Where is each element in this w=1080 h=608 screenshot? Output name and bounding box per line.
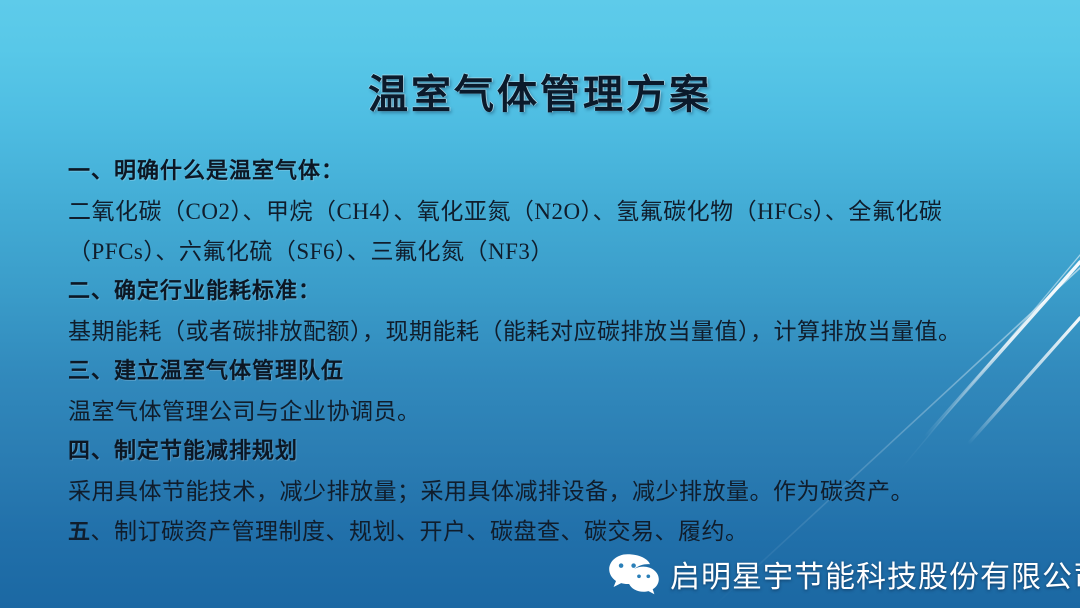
section-line-1-1: 二氧化碳（CO2）、甲烷（CH4）、氧化亚氮（N2O）、氢氟碳化物（HFCs）、… — [68, 192, 1020, 232]
section-heading-4: 四、制定节能减排规划 — [68, 432, 1020, 472]
section-line-1-2: （PFCs）、六氟化硫（SF6）、三氟化氮（NF3） — [68, 232, 1020, 272]
wechat-icon — [608, 552, 660, 596]
section-heading-3: 三、建立温室气体管理队伍 — [68, 352, 1020, 392]
slide-title: 温室气体管理方案 — [0, 62, 1080, 120]
wechat-account-name: 启明星宇节能科技股份有限公司 — [670, 552, 1080, 596]
section-line-2-1: 基期能耗（或者碳排放配额），现期能耗（能耗对应碳排放当量值），计算排放当量值。 — [68, 312, 1020, 352]
section-heading-1: 一、明确什么是温室气体： — [68, 152, 1020, 192]
section-5-text: 、制订碳资产管理制度、规划、开户、碳盘查、碳交易、履约。 — [91, 519, 749, 544]
section-heading-5: 五、制订碳资产管理制度、规划、开户、碳盘查、碳交易、履约。 — [68, 512, 1020, 552]
wechat-watermark: 启明星宇节能科技股份有限公司 — [608, 552, 1080, 596]
slide-body: 一、明确什么是温室气体： 二氧化碳（CO2）、甲烷（CH4）、氧化亚氮（N2O）… — [68, 152, 1020, 552]
section-5-number: 五 — [68, 520, 91, 545]
section-line-3-1: 温室气体管理公司与企业协调员。 — [68, 392, 1020, 432]
section-heading-2: 二、确定行业能耗标准： — [68, 272, 1020, 312]
presentation-slide: 温室气体管理方案 一、明确什么是温室气体： 二氧化碳（CO2）、甲烷（CH4）、… — [0, 0, 1080, 608]
section-line-4-1: 采用具体节能技术，减少排放量；采用具体减排设备，减少排放量。作为碳资产。 — [68, 472, 1020, 512]
